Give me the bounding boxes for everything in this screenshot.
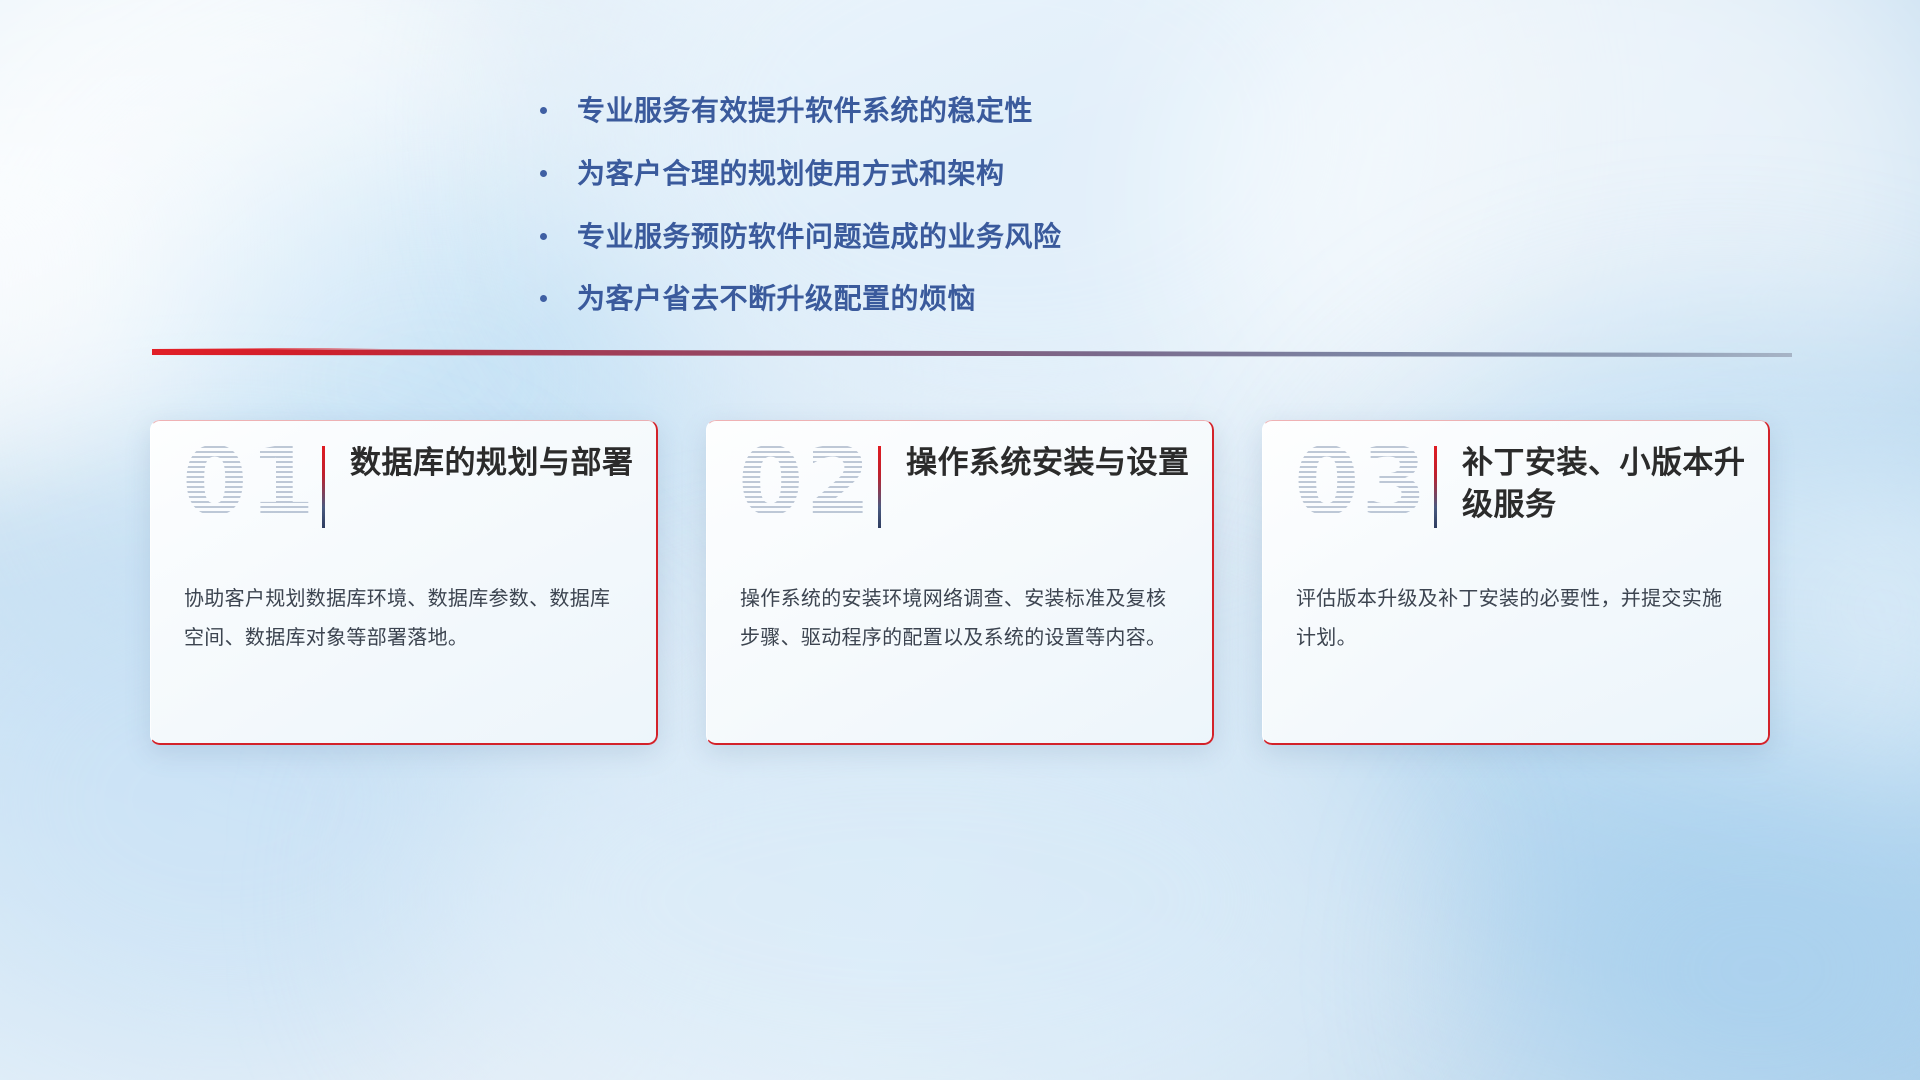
bullet-label: 专业服务有效提升软件系统的稳定性: [577, 92, 1033, 130]
card-number: 02: [738, 436, 873, 530]
card-header: 02 操作系统安装与设置: [706, 420, 1214, 570]
service-card-01[interactable]: 01 数据库的规划与部署 协助客户规划数据库环境、数据库参数、数据库空间、数据库…: [150, 420, 658, 745]
card-description: 协助客户规划数据库环境、数据库参数、数据库空间、数据库对象等部署落地。: [184, 580, 628, 658]
card-title: 操作系统安装与设置: [906, 442, 1192, 484]
service-card-list: 01 数据库的规划与部署 协助客户规划数据库环境、数据库参数、数据库空间、数据库…: [150, 420, 1770, 745]
card-divider-rule: [1434, 446, 1437, 528]
bullet-dot-icon: [540, 107, 547, 114]
list-item: 为客户合理的规划使用方式和架构: [540, 155, 1360, 193]
card-header: 03 补丁安装、小版本升级服务: [1262, 420, 1770, 570]
card-divider-rule: [322, 446, 325, 528]
card-divider-rule: [878, 446, 881, 528]
bullet-label: 为客户省去不断升级配置的烦恼: [577, 280, 976, 318]
divider-gradient-shape: [152, 346, 1792, 362]
card-title: 补丁安装、小版本升级服务: [1462, 442, 1748, 526]
list-item: 专业服务有效提升软件系统的稳定性: [540, 92, 1360, 130]
bullet-dot-icon: [540, 233, 547, 240]
bullet-dot-icon: [540, 295, 547, 302]
service-card-02[interactable]: 02 操作系统安装与设置 操作系统的安装环境网络调查、安装标准及复核步骤、驱动程…: [706, 420, 1214, 745]
benefits-bullet-list: 专业服务有效提升软件系统的稳定性 为客户合理的规划使用方式和架构 专业服务预防软…: [540, 92, 1360, 343]
card-description: 评估版本升级及补丁安装的必要性，并提交实施计划。: [1296, 580, 1740, 658]
card-number: 03: [1294, 436, 1429, 530]
card-title: 数据库的规划与部署: [350, 442, 636, 484]
bullet-label: 为客户合理的规划使用方式和架构: [577, 155, 1005, 193]
card-header: 01 数据库的规划与部署: [150, 420, 658, 570]
list-item: 专业服务预防软件问题造成的业务风险: [540, 218, 1360, 256]
bullet-dot-icon: [540, 170, 547, 177]
bullet-label: 专业服务预防软件问题造成的业务风险: [577, 218, 1062, 256]
service-card-03[interactable]: 03 补丁安装、小版本升级服务 评估版本升级及补丁安装的必要性，并提交实施计划。: [1262, 420, 1770, 745]
card-number: 01: [182, 436, 317, 530]
card-description: 操作系统的安装环境网络调查、安装标准及复核步骤、驱动程序的配置以及系统的设置等内…: [740, 580, 1184, 658]
list-item: 为客户省去不断升级配置的烦恼: [540, 280, 1360, 318]
section-divider: [152, 346, 1792, 362]
